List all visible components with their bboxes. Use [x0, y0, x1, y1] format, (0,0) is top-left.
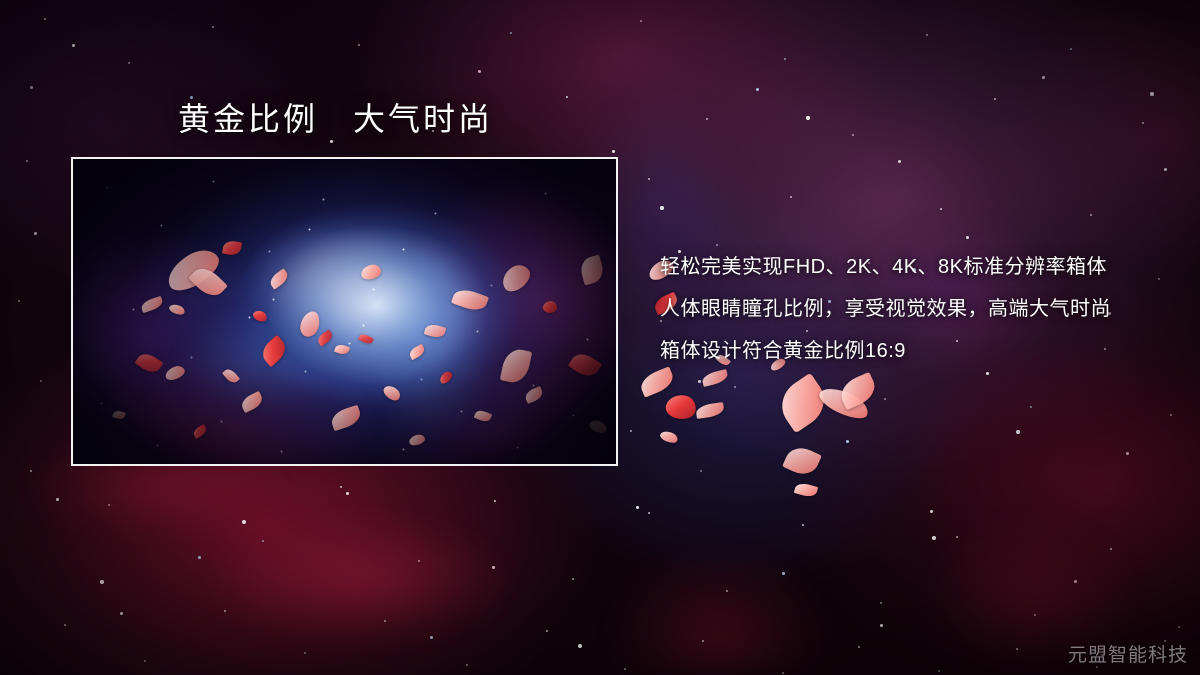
- bright-stars: [0, 0, 4, 4]
- petal: [794, 481, 818, 499]
- page-title: 黄金比例 大气时尚: [178, 100, 493, 138]
- description-line-1: 轻松完美实现FHD、2K、4K、8K标准分辨率箱体: [660, 256, 1160, 279]
- petal: [659, 429, 679, 445]
- brand-watermark: 元盟智能科技: [1068, 640, 1188, 667]
- medium-stars: [0, 0, 3, 3]
- description-line-2: 人体眼睛瞳孔比例，享受视觉效果，高端大气时尚: [660, 298, 1160, 321]
- petal: [695, 402, 725, 419]
- description-line-3: 箱体设计符合黄金比例16:9: [660, 340, 1160, 363]
- feature-description: 轻松完美实现FHD、2K、4K、8K标准分辨率箱体 人体眼睛瞳孔比例，享受视觉效…: [660, 256, 1160, 382]
- small-stars: [0, 0, 2, 2]
- photo-vignette: [73, 159, 616, 464]
- photo-content: [73, 159, 616, 464]
- presentation-slide: 黄金比例 大气时尚 轻松完美实现FHD、2K、4K、8K标准分辨率箱体 人体眼睛…: [0, 0, 1200, 675]
- petal: [664, 392, 698, 422]
- petal: [816, 382, 872, 425]
- framed-photo: [71, 157, 618, 466]
- petal: [782, 443, 822, 480]
